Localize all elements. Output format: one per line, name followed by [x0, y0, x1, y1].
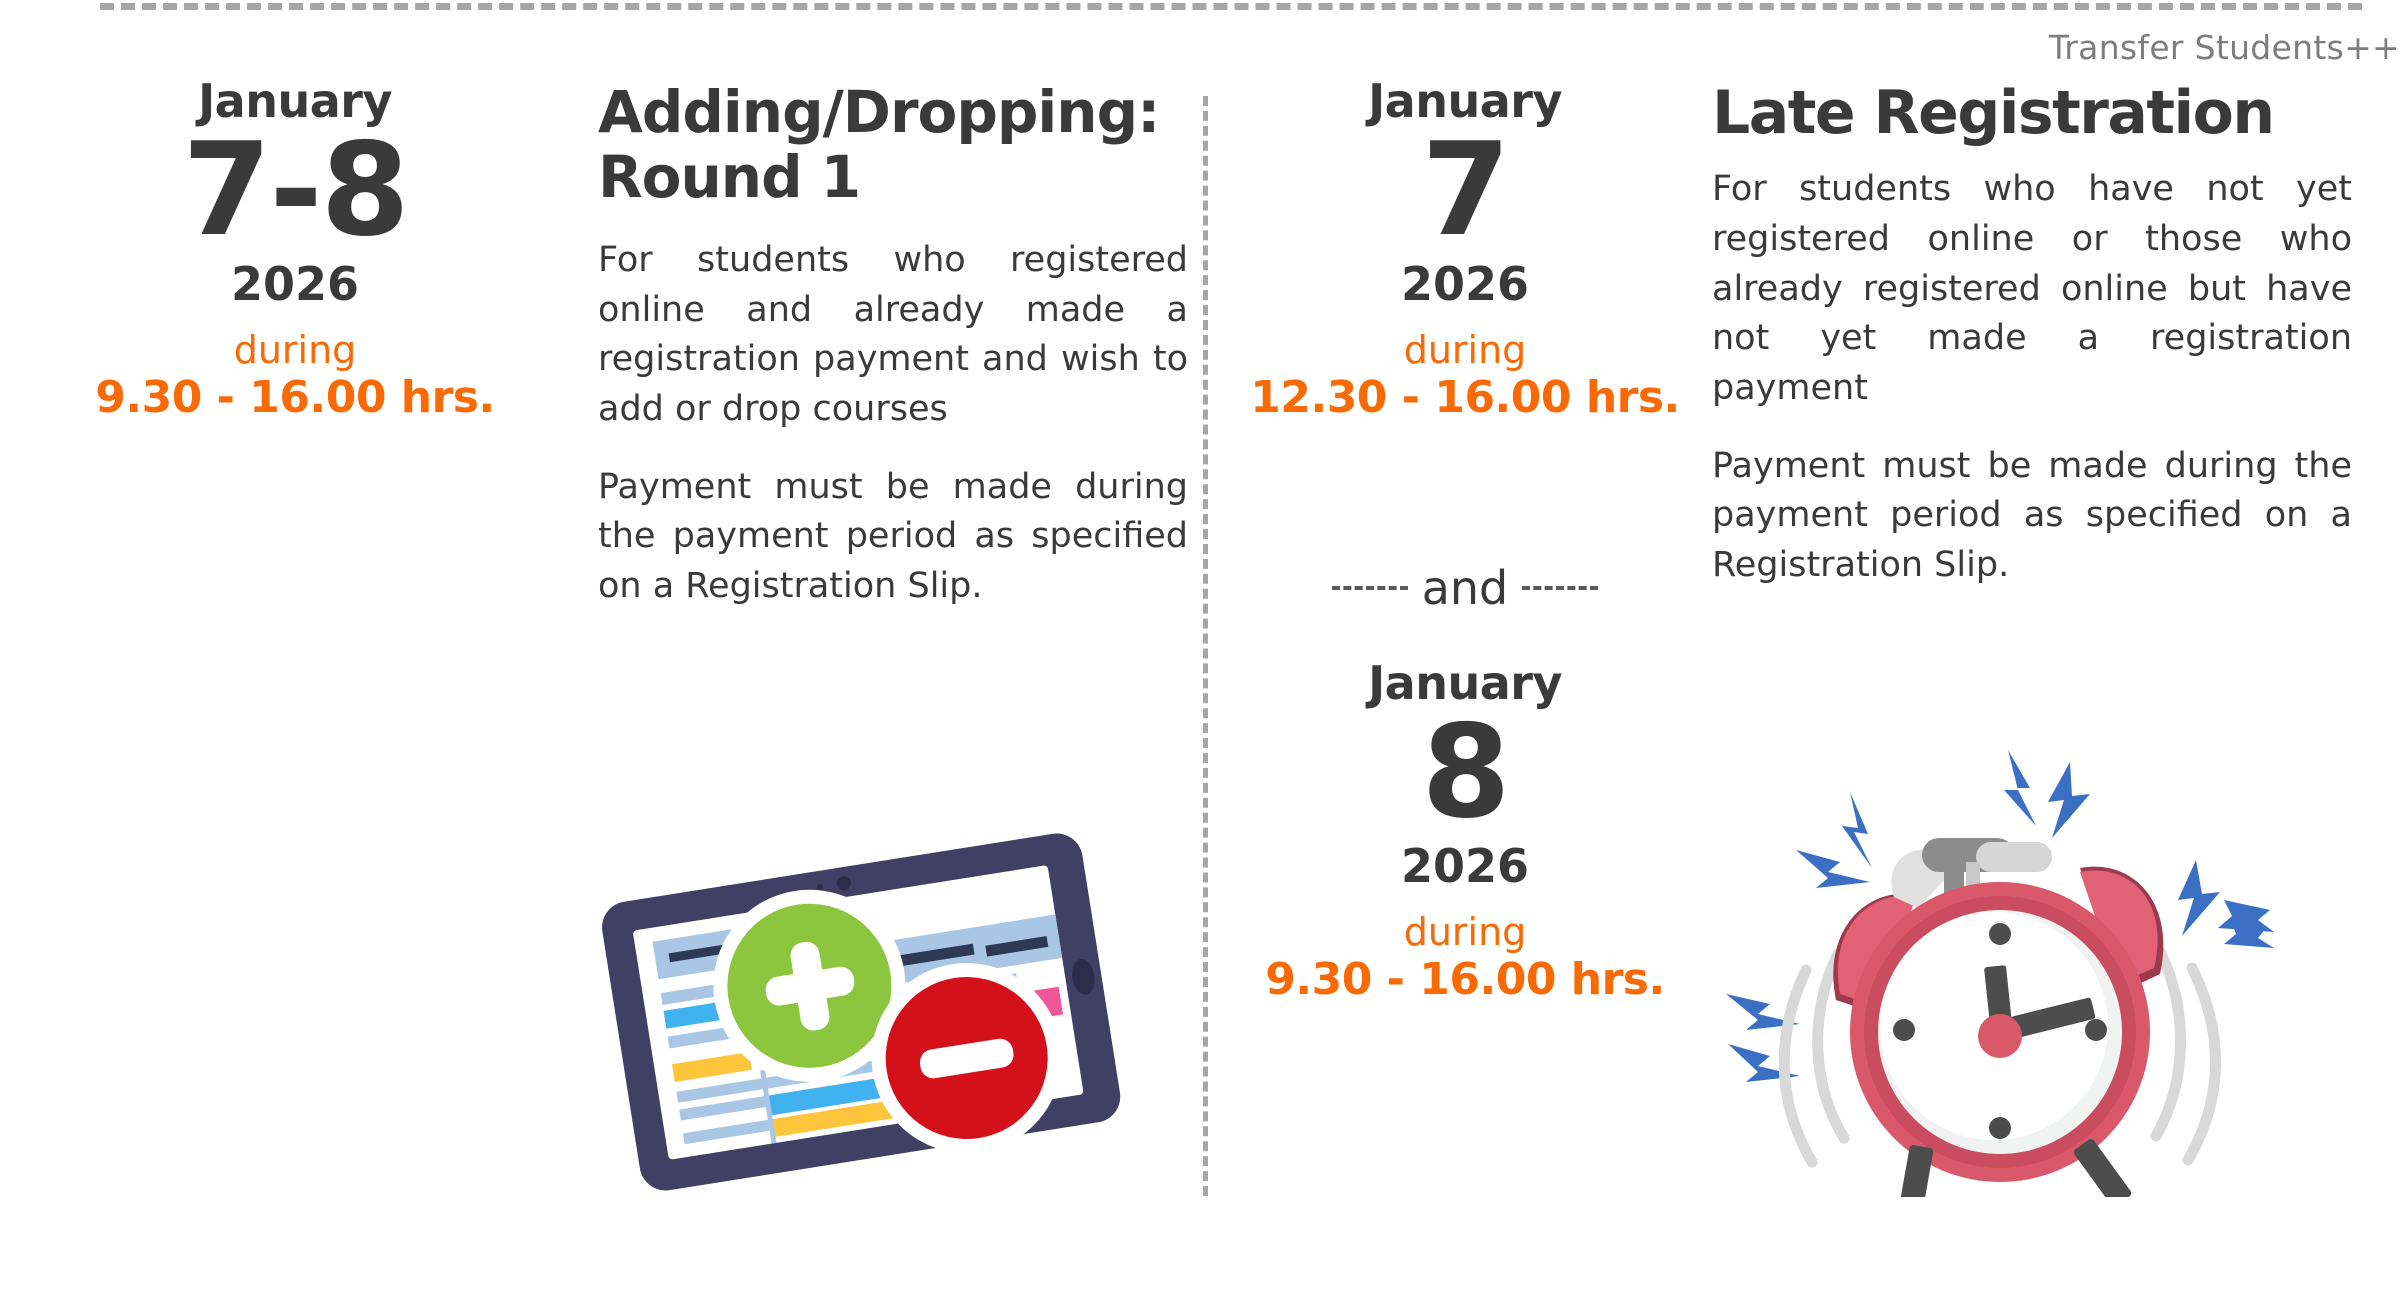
time-range: 9.30 - 16.00 hrs. [30, 375, 560, 421]
infographic-page: Transfer Students++ January 7-8 2026 dur… [0, 0, 2400, 1300]
add-drop-tablet-illustration [596, 826, 1126, 1196]
section-paragraph-1: For students who registered online and a… [598, 236, 1188, 435]
time-range: 9.30 - 16.00 hrs. [1230, 957, 1700, 1003]
section-heading: Adding/Dropping: Round 1 [598, 80, 1188, 210]
separator-dash-right [1522, 586, 1598, 590]
top-dashed-rule [100, 3, 2362, 10]
date-block-late-reg-2: January 8 2026 during 9.30 - 16.00 hrs. [1230, 660, 1700, 1003]
date-day: 7-8 [30, 126, 560, 257]
and-separator: and [1230, 565, 1700, 611]
date-block-late-reg-1: January 7 2026 during 12.30 - 16.00 hrs. [1230, 78, 1700, 421]
date-year: 2026 [1230, 843, 1700, 889]
vertical-dashed-divider [1203, 96, 1208, 1196]
during-label: during [1230, 913, 1700, 951]
during-label: during [1230, 331, 1700, 369]
date-year: 2026 [30, 261, 560, 307]
transfer-students-badge: Transfer Students++ [1740, 28, 2400, 67]
time-range: 12.30 - 16.00 hrs. [1230, 375, 1700, 421]
date-year: 2026 [1230, 261, 1700, 307]
section-late-registration: Late Registration For students who have … [1712, 80, 2352, 591]
date-block-adding-dropping: January 7-8 2026 during 9.30 - 16.00 hrs… [30, 78, 560, 421]
during-label: during [30, 331, 560, 369]
section-paragraph-1: For students who have not yet registered… [1712, 165, 2352, 413]
date-day: 8 [1230, 708, 1700, 839]
date-day: 7 [1230, 126, 1700, 257]
separator-label: and [1422, 565, 1509, 611]
section-heading: Late Registration [1712, 80, 2352, 147]
section-adding-dropping: Adding/Dropping: Round 1 For students wh… [598, 80, 1188, 612]
section-paragraph-2: Payment must be made during the payment … [598, 463, 1188, 612]
separator-dash-left [1332, 586, 1408, 590]
section-paragraph-2: Payment must be made during the payment … [1712, 442, 2352, 591]
alarm-clock-illustration [1718, 742, 2278, 1197]
